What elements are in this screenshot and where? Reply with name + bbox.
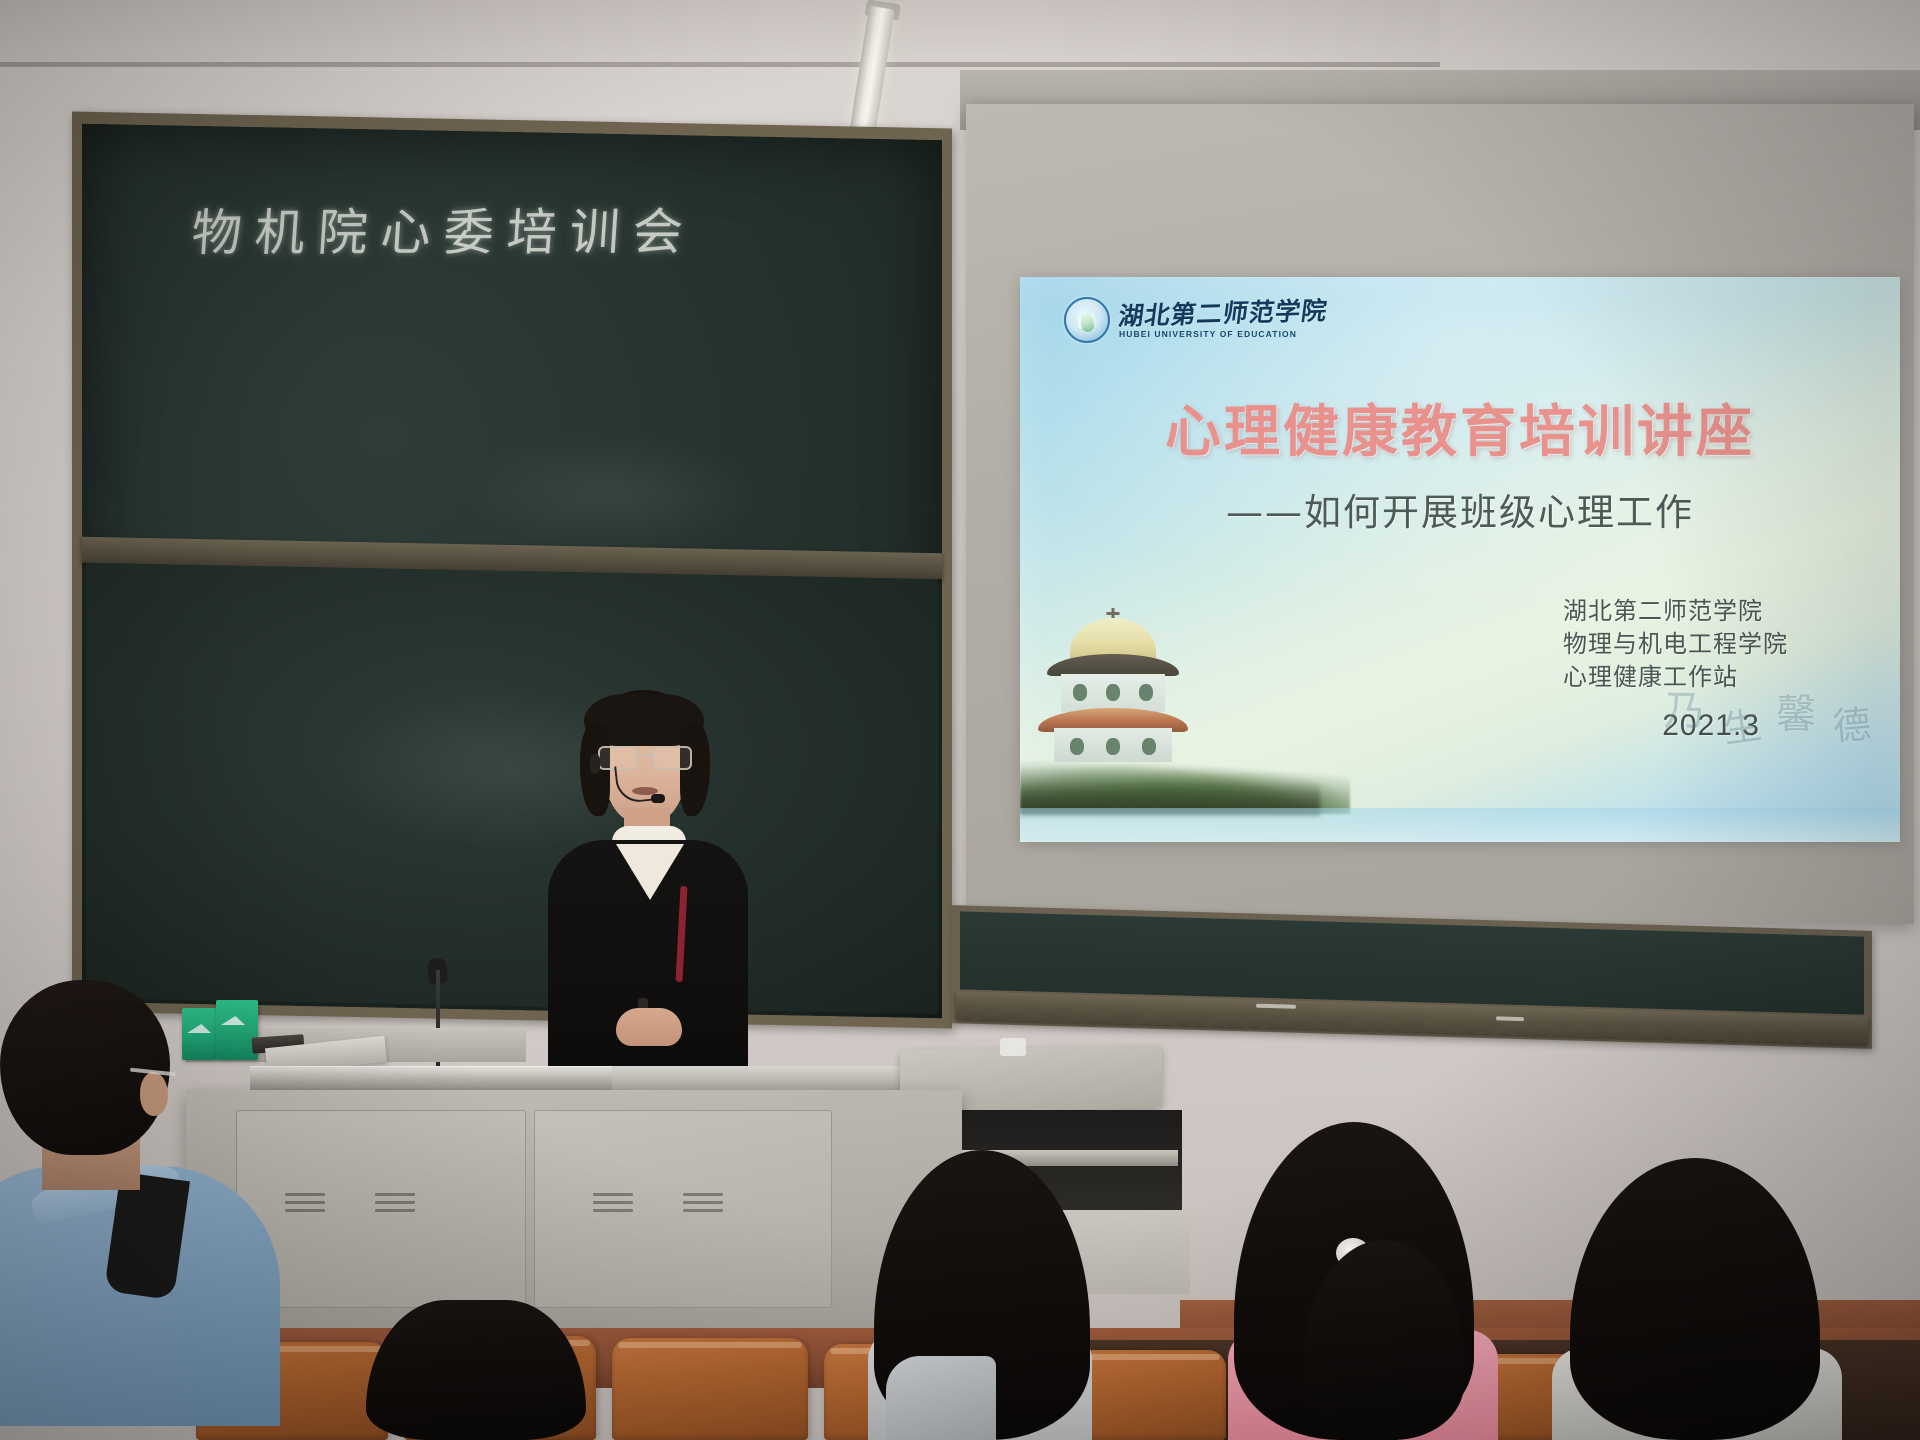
affiliation-line-2: 物理与机电工程学院 [1563, 628, 1788, 661]
audience-member-center-left [366, 1300, 586, 1440]
podium-latch-knob[interactable] [1000, 1038, 1026, 1056]
affiliation-line-1: 湖北第二师范学院 [1563, 595, 1788, 628]
shoulder-strap [886, 1356, 996, 1440]
pagoda-window [1142, 738, 1156, 755]
university-emblem-icon [1064, 297, 1110, 343]
pagoda-window [1139, 684, 1153, 701]
audience-member-left [0, 980, 300, 1440]
pagoda-body-upper [1061, 674, 1165, 712]
vent-slots-icon [683, 1193, 723, 1219]
audience-head [0, 980, 170, 1155]
audience-hair [1570, 1158, 1820, 1440]
pagoda-eave-upper [1047, 654, 1179, 676]
pagoda-window [1073, 684, 1087, 701]
presenter-figure [520, 690, 780, 1110]
presenter-hands [616, 1008, 682, 1046]
slide-title: 心理健康教育培训讲座 [1020, 387, 1900, 468]
audience-member-ponytail [1218, 1110, 1518, 1440]
audience-member-far-right [1552, 1150, 1852, 1440]
auditorium-chair[interactable] [612, 1338, 808, 1440]
headset-mic-capsule [651, 794, 665, 803]
pagoda-window [1070, 738, 1084, 755]
pagoda-window [1106, 738, 1120, 755]
university-logo: 湖北第二师范学院 HUBEI UNIVERSITY OF EDUCATION [1064, 297, 1327, 343]
pagoda-illustration [1038, 610, 1188, 770]
chalk-smudge [462, 431, 762, 557]
chalk-piece [1496, 1016, 1524, 1021]
teaching-podium [186, 1090, 962, 1328]
slide-bottom-gradient [1020, 808, 1900, 842]
pagoda-body-lower [1054, 728, 1172, 762]
pagoda-window [1106, 684, 1120, 701]
presenter-vneck-opening [616, 844, 684, 900]
blackboard-lower-pane [86, 563, 938, 1014]
vent-slots-icon [375, 1193, 415, 1219]
university-name-cn: 湖北第二师范学院 [1117, 298, 1329, 329]
projected-slide: 湖北第二师范学院 HUBEI UNIVERSITY OF EDUCATION 心… [1020, 277, 1900, 842]
slide-affiliation: 湖北第二师范学院 物理与机电工程学院 心理健康工作站 [1563, 595, 1788, 694]
podium-cabinet-door-right[interactable] [534, 1110, 832, 1308]
university-logo-text: 湖北第二师范学院 HUBEI UNIVERSITY OF EDUCATION [1119, 301, 1327, 339]
audience-member-long-hair [850, 1140, 1110, 1440]
presenter-hair-right [680, 724, 710, 816]
audience-hair [366, 1300, 586, 1440]
headset-earpiece [590, 754, 600, 774]
calligraphy-char-4: 德 [1830, 693, 1873, 751]
blackboard: 物机院心委培训会 [72, 112, 952, 1029]
chalk-piece [1256, 1004, 1296, 1009]
affiliation-line-3: 心理健康工作站 [1563, 661, 1788, 694]
classroom-photo-scene: 物机院心委培训会 湖北第二师范学院 HUBEI UNIVERSITY OF ED… [0, 0, 1920, 1440]
blackboard-chalk-text: 物机院心委培训会 [190, 192, 699, 265]
slide-subtitle: ——如何开展班级心理工作 [1020, 482, 1900, 536]
slide-date: 2021.3 [1662, 709, 1760, 743]
audience-ear [140, 1072, 168, 1116]
vent-slots-icon [593, 1193, 633, 1219]
university-name-en: HUBEI UNIVERSITY OF EDUCATION [1119, 331, 1327, 339]
